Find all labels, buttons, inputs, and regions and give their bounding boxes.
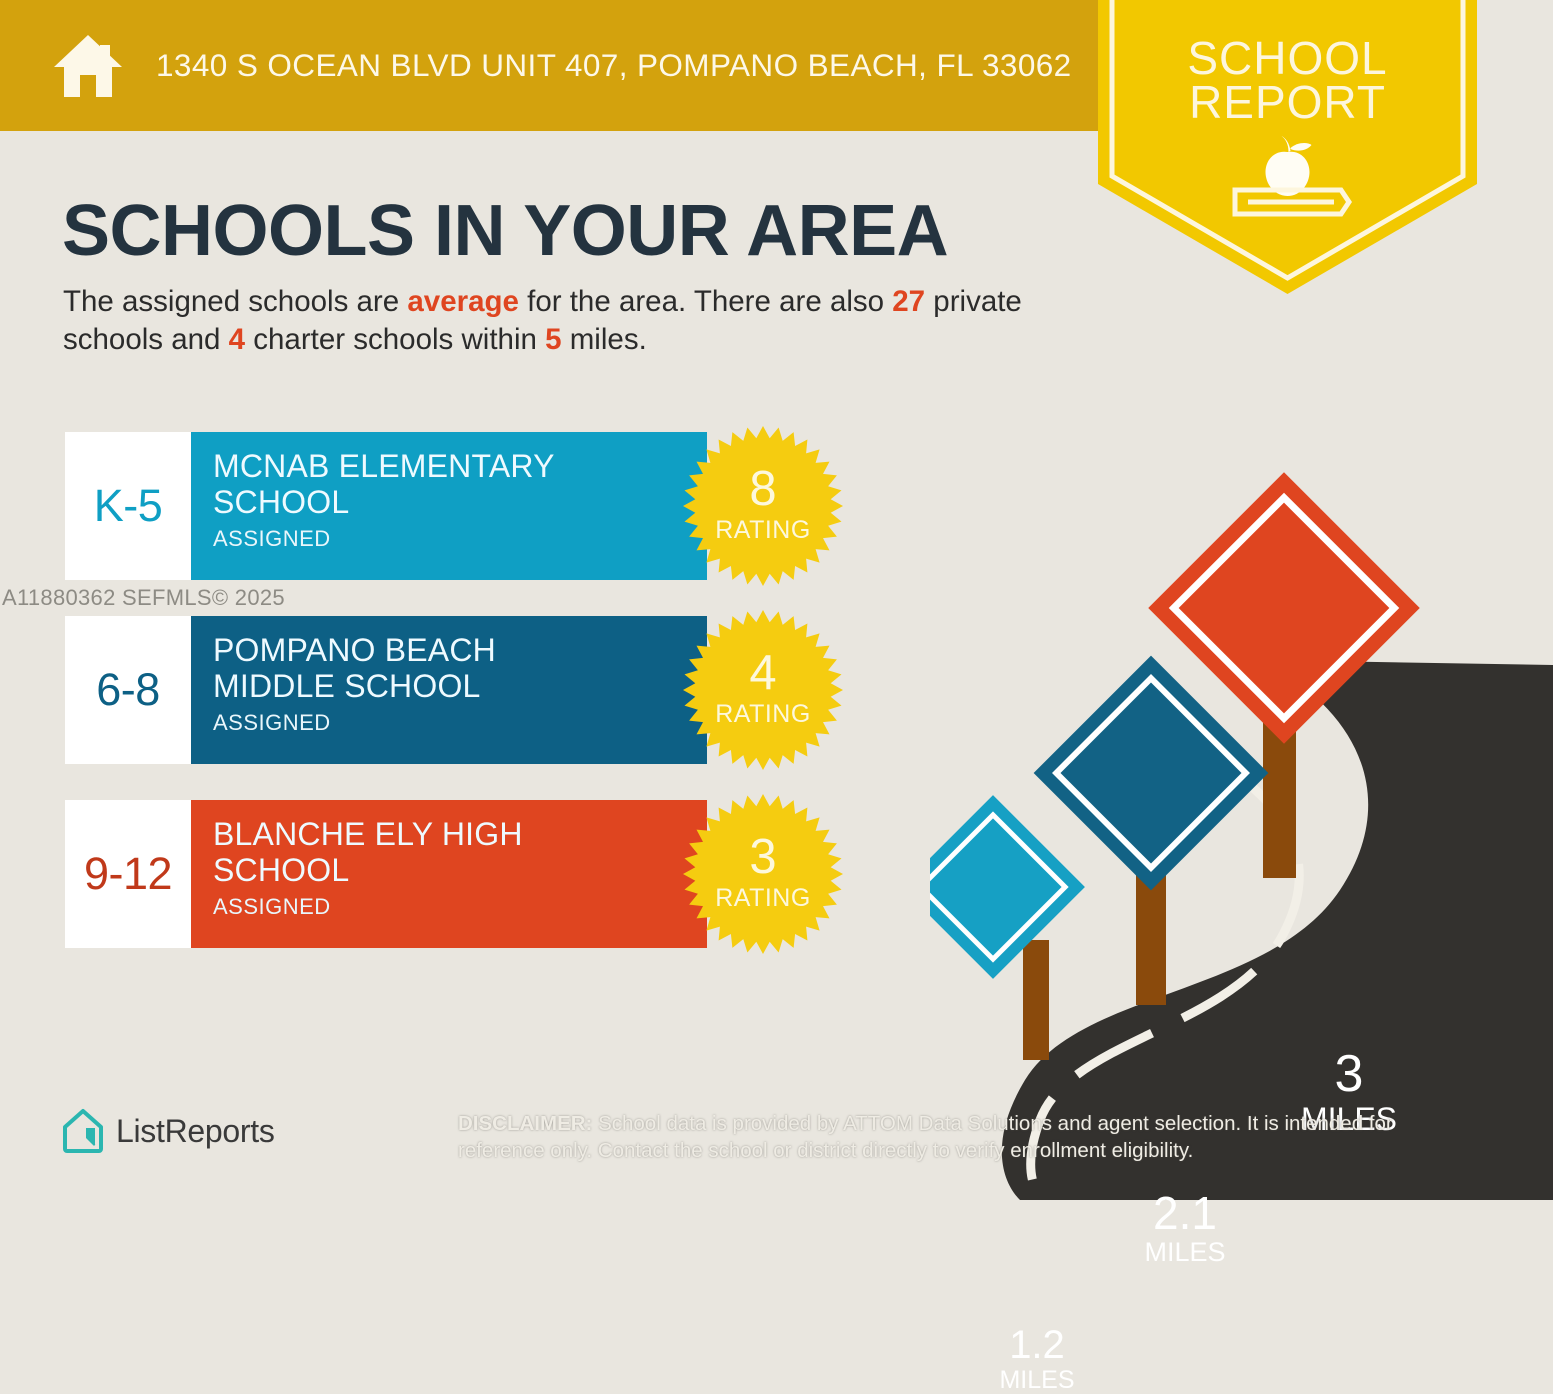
subtitle-part-5: miles. (562, 323, 647, 356)
listreports-house-icon (62, 1108, 104, 1154)
subtitle-highlight-private-count: 27 (892, 285, 925, 318)
grade-range-label: K-5 (94, 480, 163, 532)
road-graphic (930, 470, 1553, 1200)
grade-range-box: K-5 (65, 432, 191, 580)
school-name-line-2: MIDDLE SCHOOL (213, 669, 707, 705)
disclaimer-label: DISCLAIMER: (458, 1112, 592, 1135)
school-info-bar: POMPANO BEACH MIDDLE SCHOOL ASSIGNED (191, 616, 707, 764)
school-report-badge (1098, 0, 1477, 296)
property-address: 1340 S OCEAN BLVD UNIT 407, POMPANO BEAC… (156, 47, 1072, 84)
school-status-label: ASSIGNED (213, 710, 707, 736)
grade-range-box: 6-8 (65, 616, 191, 764)
distance-sign-1-label: 1.2 MILES (977, 1325, 1097, 1393)
grade-range-label: 6-8 (96, 664, 160, 716)
distance-road-illustration: 1.2 MILES 2.1 MILES 3 MILES (930, 470, 1553, 1200)
school-name-line-1: MCNAB ELEMENTARY (213, 449, 707, 485)
subtitle-part-4: charter schools within (245, 323, 545, 356)
school-name-line-1: BLANCHE ELY HIGH (213, 817, 707, 853)
school-name-line-1: POMPANO BEACH (213, 633, 707, 669)
distance-sign-2-label: 2.1 MILES (1110, 1190, 1260, 1266)
header-address-bar: 1340 S OCEAN BLVD UNIT 407, POMPANO BEAC… (0, 0, 1120, 131)
mls-watermark: A11880362 SEFMLS© 2025 (2, 585, 285, 611)
rating-starburst-badge (681, 792, 845, 956)
subtitle-highlight-average: average (407, 285, 519, 318)
rating-starburst-badge (681, 424, 845, 588)
listreports-wordmark: ListReports (116, 1113, 275, 1150)
subtitle-highlight-charter-count: 4 (229, 323, 245, 356)
school-name-line-2: SCHOOL (213, 853, 707, 889)
distance-unit: MILES (1110, 1239, 1260, 1266)
school-name-line-2: SCHOOL (213, 485, 707, 521)
disclaimer-body: School data is provided by ATTOM Data So… (458, 1112, 1393, 1162)
page-title: SCHOOLS IN YOUR AREA (62, 190, 948, 272)
sign-post (1023, 940, 1049, 1060)
distance-value: 1.2 (977, 1325, 1097, 1365)
grade-range-box: 9-12 (65, 800, 191, 948)
distance-sign-1 (930, 795, 1085, 979)
school-info-bar: BLANCHE ELY HIGH SCHOOL ASSIGNED (191, 800, 707, 948)
subtitle-highlight-radius: 5 (545, 323, 561, 356)
subtitle-part-1: The assigned schools are (63, 285, 407, 318)
school-row: 6-8 POMPANO BEACH MIDDLE SCHOOL ASSIGNED… (65, 616, 833, 764)
grade-range-label: 9-12 (84, 848, 172, 900)
rating-starburst-badge (681, 608, 845, 772)
disclaimer-text: DISCLAIMER: School data is provided by A… (458, 1110, 1478, 1164)
subtitle-part-2: for the area. There are also (519, 285, 892, 318)
home-icon (52, 33, 124, 99)
distance-unit: MILES (977, 1368, 1097, 1393)
page-subtitle: The assigned schools are average for the… (63, 283, 1093, 359)
school-row: K-5 MCNAB ELEMENTARY SCHOOL ASSIGNED 8 R… (65, 432, 833, 580)
listreports-logo[interactable]: ListReports (62, 1108, 275, 1154)
school-status-label: ASSIGNED (213, 526, 707, 552)
school-row: 9-12 BLANCHE ELY HIGH SCHOOL ASSIGNED 3 … (65, 800, 833, 948)
school-status-label: ASSIGNED (213, 894, 707, 920)
school-info-bar: MCNAB ELEMENTARY SCHOOL ASSIGNED (191, 432, 707, 580)
